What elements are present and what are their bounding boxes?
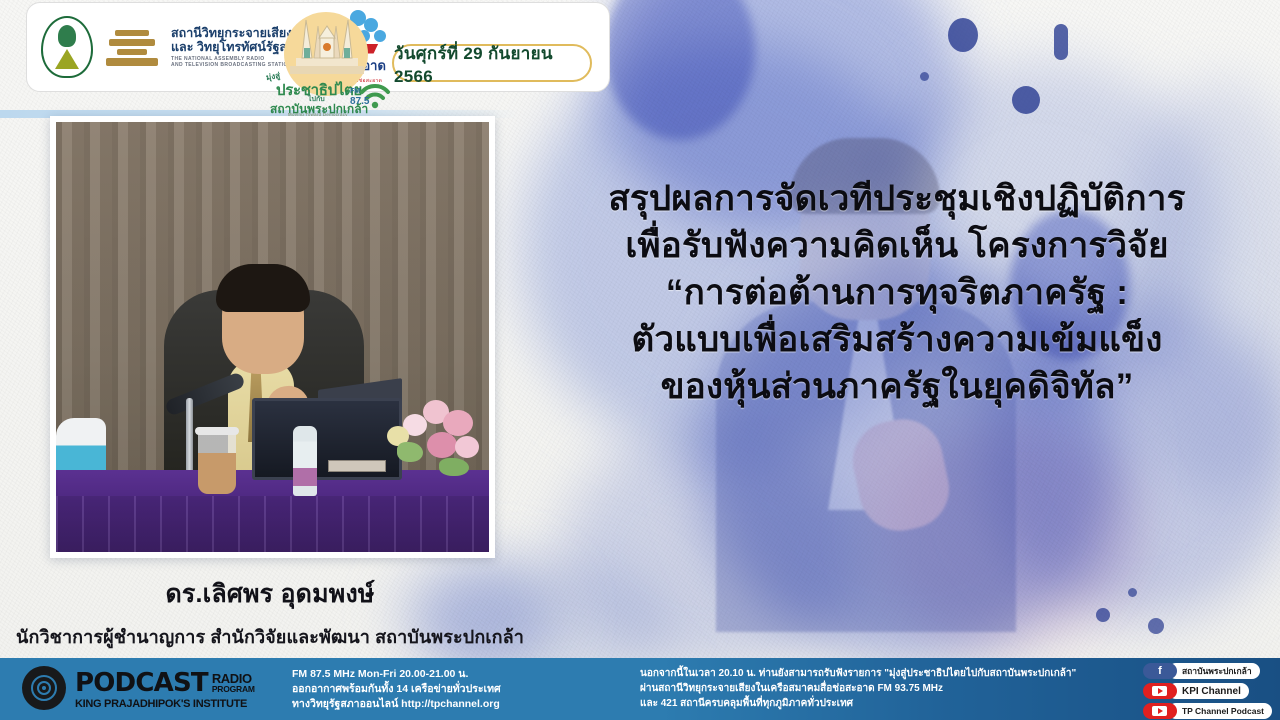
democracy-monument-icon (288, 14, 366, 80)
social-links: f สถาบันพระปกเกล้า KPI Channel TP Channe… (1143, 663, 1272, 719)
footer-bar: PODCAST RADIO PROGRAM KING PRAJADHIPOK'S… (0, 658, 1280, 720)
youtube-icon[interactable] (1143, 703, 1177, 719)
title-line-5: ของหุ้นส่วนภาครัฐในยุคดิจิทัล” (530, 364, 1264, 411)
ink-splatter (948, 18, 978, 52)
speaker-name: ดร.เลิศพร อุดมพงษ์ (0, 574, 540, 614)
social-link-tp-channel-podcast[interactable]: TP Channel Podcast (1143, 703, 1272, 719)
broadcast-tower-icon (22, 666, 66, 710)
broadcast-schedule-info: FM 87.5 MHz Mon-Fri 20.00-21.00 น. ออกอา… (292, 667, 501, 713)
podcast-institute-name: KING PRAJADHIPOK'S INSTITUTE (75, 699, 255, 710)
facebook-label: สถาบันพระปกเกล้า (1182, 664, 1252, 678)
broadcast-info-line-2: ออกอากาศพร้อมกันทั้ง 14 เครือข่ายทั่วประ… (292, 682, 501, 697)
date-badge-text: วันศุกร์ที่ 29 กันยายน 2566 (394, 40, 590, 87)
ink-splatter (1128, 588, 1137, 597)
additional-broadcast-info: นอกจากนี้ในเวลา 20.10 น. ท่านยังสามารถรั… (640, 666, 1076, 711)
speaker-photo-card (50, 116, 495, 558)
podcast-logo-wordmark: PODCAST RADIO PROGRAM KING PRAJADHIPOK'S… (75, 667, 255, 710)
speaker-role: นักวิชาการผู้ชำนาญการ สำนักวิจัยและพัฒนา… (0, 622, 540, 651)
microphone-stand (186, 398, 193, 480)
tp-channel-label-pill[interactable]: TP Channel Podcast (1168, 703, 1272, 719)
thai-garuda-seal-icon (41, 16, 93, 78)
ink-splatter (1148, 618, 1164, 634)
facebook-icon[interactable]: f (1143, 663, 1177, 679)
ink-splatter (1096, 608, 1110, 622)
tp-channel-label: TP Channel Podcast (1182, 706, 1264, 716)
kpi-channel-label: KPI Channel (1182, 686, 1241, 697)
iced-coffee-cup (198, 432, 236, 494)
title-line-2: เพื่อรับฟังความคิดเห็น โครงการวิจัย (530, 223, 1264, 270)
speaker-photo (56, 122, 489, 552)
title-line-3: “การต่อต้านการทุจริตภาครัฐ : (530, 270, 1264, 317)
extra-info-line-3: และ 421 สถานีครบคลุมพื้นที่ทุกภูมิภาคทั่… (640, 696, 1076, 711)
ink-splatter (920, 72, 929, 81)
broadcast-info-line-1: FM 87.5 MHz Mon-Fri 20.00-21.00 น. (292, 667, 501, 682)
flower-bouquet (381, 396, 485, 482)
water-bottle (293, 426, 317, 496)
kpi-frequency: 87.5 (350, 96, 369, 107)
facebook-label-pill[interactable]: สถาบันพระปกเกล้า (1168, 663, 1260, 679)
speaker-hair (216, 264, 310, 312)
title-line-1: สรุปผลการจัดเวทีประชุมเชิงปฏิบัติการ (530, 176, 1264, 223)
podcast-radio-logo: PODCAST RADIO PROGRAM KING PRAJADHIPOK'S… (22, 666, 255, 710)
social-link-facebook[interactable]: f สถาบันพระปกเกล้า (1143, 663, 1260, 679)
broadcast-info-line-3: ทางวิทยุรัฐสภาออนไลน์ http://tpchannel.o… (292, 697, 501, 712)
youtube-icon[interactable] (1143, 683, 1177, 699)
program-word: PROGRAM (212, 685, 255, 694)
kpi-democracy-radio-logo: มุ่งสู่ ประชาธิปไตย ไปกับ สถาบันพระปกเกล… (262, 8, 394, 116)
extra-info-line-2: ผ่านสถานีวิทยุกระจายเสียงในเครือสมาคมสื่… (640, 681, 1076, 696)
name-plate (328, 460, 386, 472)
social-link-kpi-channel[interactable]: KPI Channel (1143, 683, 1249, 699)
kpi-channel-label-pill[interactable]: KPI Channel (1168, 683, 1249, 699)
ink-splatter (1054, 24, 1068, 60)
podcast-word: PODCAST (75, 670, 208, 696)
poster-title: สรุปผลการจัดเวทีประชุมเชิงปฏิบัติการ เพื… (530, 176, 1264, 410)
poster-canvas: สถานีวิทยุกระจายเสียง และ วิทยุโทรทัศน์ร… (0, 0, 1280, 720)
extra-info-line-1: นอกจากนี้ในเวลา 20.10 น. ท่านยังสามารถรั… (640, 666, 1076, 681)
kpi-fm-label: FM (350, 88, 360, 95)
speaker-credit: ดร.เลิศพร อุดมพงษ์ นักวิชาการผู้ชำนาญการ… (0, 574, 540, 651)
purple-table-cloth (56, 470, 489, 552)
date-badge: วันศุกร์ที่ 29 กันยายน 2566 (392, 44, 592, 82)
parliament-radio-mark-icon (103, 28, 161, 66)
ink-splatter (1012, 86, 1040, 114)
title-line-4: ตัวแบบเพื่อเสริมสร้างความเข้มแข็ง (530, 317, 1264, 364)
